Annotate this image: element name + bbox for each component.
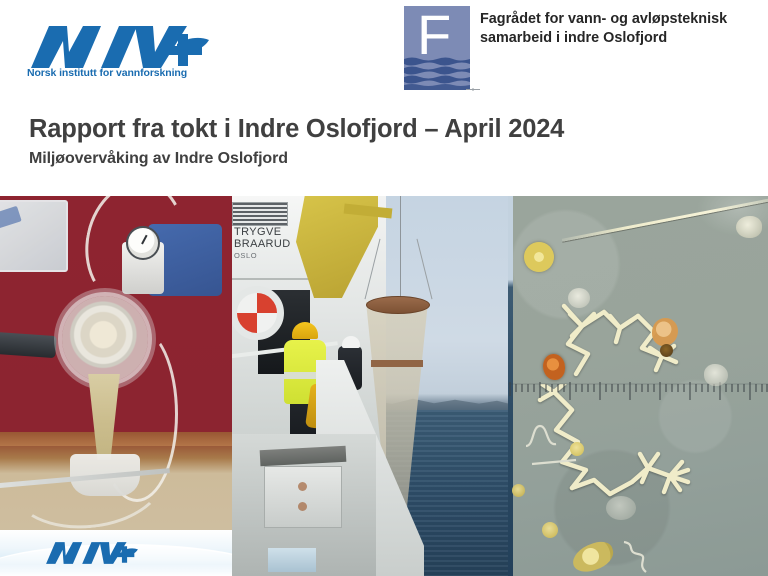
dinoflagellate-cell-orange — [543, 354, 565, 380]
title-block: Rapport fra tokt i Indre Oslofjord – Apr… — [29, 115, 729, 168]
page-header: Norsk institutt for vannforskning F Fagr… — [0, 0, 768, 196]
microscope-phytoplankton-photo — [508, 196, 768, 576]
lab-filtration-photo — [0, 196, 232, 576]
vessel-vent-grille — [232, 202, 288, 226]
vessel-home-port: OSLO — [234, 250, 291, 262]
small-yellow-cell-2 — [542, 522, 558, 538]
small-yellow-cell-1 — [570, 442, 584, 456]
niva-watermark-icon — [44, 538, 140, 568]
vessel-name-plate: TRYGVE BRAARUD OSLO — [234, 226, 291, 262]
vessel-name-line2: BRAARUD — [234, 238, 291, 250]
niva-wordmark-icon — [27, 22, 213, 72]
pale-cell-3 — [736, 216, 762, 238]
white-helmet-icon — [342, 336, 360, 348]
filament-squiggle-left — [524, 420, 558, 450]
filament-squiggle-bottom — [620, 540, 656, 574]
plankton-net-band — [371, 360, 423, 367]
crane-wire — [400, 196, 401, 302]
page-title: Rapport fra tokt i Indre Oslofjord – Apr… — [29, 115, 729, 144]
niva-tagline: Norsk institutt for vannforskning — [27, 67, 187, 79]
fagraadet-mark-icon: F — [404, 6, 470, 90]
fagraadet-logo: F Fagrådet for vann- og avløpsteknisk sa… — [404, 6, 727, 90]
niva-watermark-banner — [0, 530, 232, 576]
deck-blue-panel — [268, 548, 316, 572]
fagraadet-name: Fagrådet for vann- og avløpsteknisk sama… — [480, 10, 727, 49]
rust-mark-lower — [298, 502, 307, 511]
fagraadet-baseline-rule — [404, 88, 480, 91]
page-subtitle: Miljøovervåking av Indre Oslofjord — [29, 150, 729, 168]
small-yellow-cell-3 — [512, 484, 525, 497]
vessel-plankton-net-photo: TRYGVE BRAARUD OSLO — [232, 196, 508, 576]
fagraadet-f-letter: F — [417, 7, 451, 63]
deck-equipment-box — [264, 466, 342, 528]
black-pipe — [0, 332, 57, 358]
pale-cell-1 — [568, 288, 590, 308]
fagraadet-name-line2: samarbeid i indre Oslofjord — [480, 29, 727, 48]
measurement-scale-bar — [508, 382, 768, 408]
vessel-name-line1: TRYGVE — [234, 226, 291, 238]
photo-strip: TRYGVE BRAARUD OSLO — [0, 196, 768, 576]
sample-tray — [0, 200, 68, 272]
plankton-net-ring — [366, 296, 430, 314]
pale-cell-2 — [704, 364, 728, 386]
filament-straight-left — [530, 458, 578, 466]
pale-cell-4 — [606, 496, 636, 520]
life-ring-icon — [232, 286, 284, 340]
filtration-funnel-cup — [62, 296, 148, 382]
water-waves-icon — [404, 56, 470, 90]
centric-diatom-cell — [524, 242, 554, 272]
dark-cell-inclusion — [660, 344, 673, 357]
rust-mark-upper — [298, 482, 307, 491]
fagraadet-name-line1: Fagrådet for vann- og avløpsteknisk — [480, 10, 727, 29]
